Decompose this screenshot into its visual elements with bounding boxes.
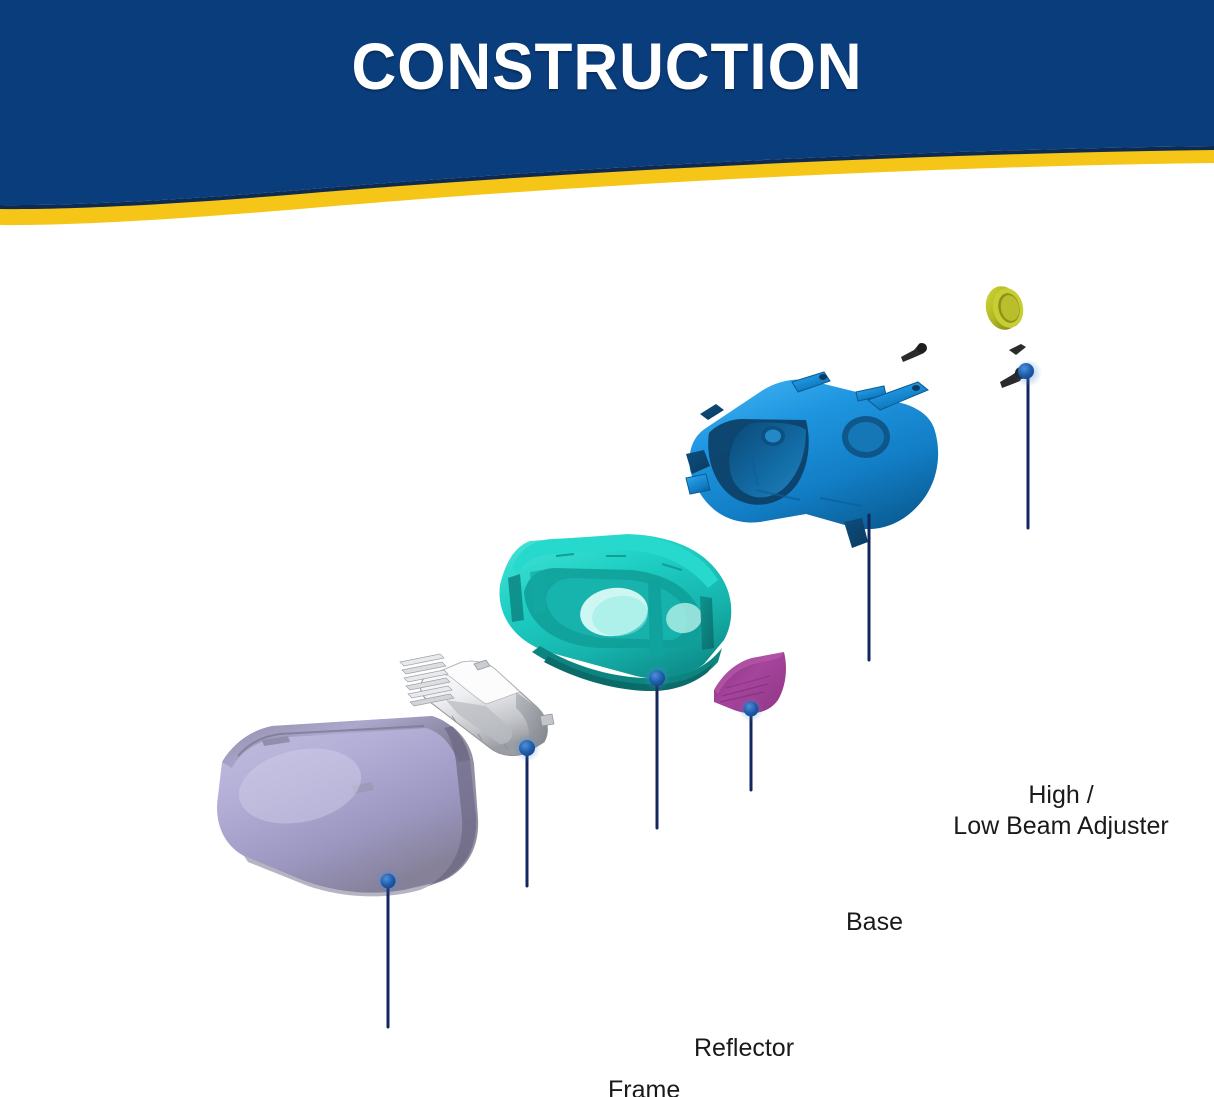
adjuster-screw-left-icon (901, 343, 927, 362)
part-frame (499, 534, 731, 691)
marker-lampshade (381, 874, 396, 889)
marker-lamp-bowl (519, 740, 535, 756)
hardware-group (901, 283, 1027, 388)
base-tab-1 (700, 404, 724, 420)
lamp-bowl-lug (540, 714, 554, 726)
base-reflector-bowl-inner (848, 422, 884, 452)
bulb-cap-ring-icon (982, 283, 1027, 333)
part-label-high-low-beam-adjuster: High / Low Beam Adjuster (925, 780, 1197, 841)
base-bracket-left-2 (686, 474, 710, 494)
page-title: CONSTRUCTION (36, 33, 1177, 99)
exploded-view-diagram: Lampshade Lamp Bowl Frame Reflector Base… (0, 235, 1214, 1097)
part-label-base: Base (846, 907, 903, 938)
base-arm-right-hole (912, 385, 920, 391)
part-base (686, 372, 938, 548)
parts-illustration (0, 235, 1214, 1097)
part-label-reflector: Reflector (694, 1033, 794, 1064)
marker-reflector (744, 702, 759, 717)
base-tab-2-hole (819, 374, 827, 380)
frame-rib-right (700, 596, 714, 650)
base-bulb-hole-inner (765, 430, 781, 443)
part-lampshade (217, 716, 478, 896)
construction-infographic: CONSTRUCTION (0, 0, 1214, 1097)
header-banner: CONSTRUCTION (0, 0, 1214, 235)
marker-adjuster (1018, 363, 1034, 379)
marker-frame (649, 670, 665, 686)
part-label-frame: Frame (608, 1075, 680, 1097)
adjuster-clip-icon (1009, 344, 1026, 355)
